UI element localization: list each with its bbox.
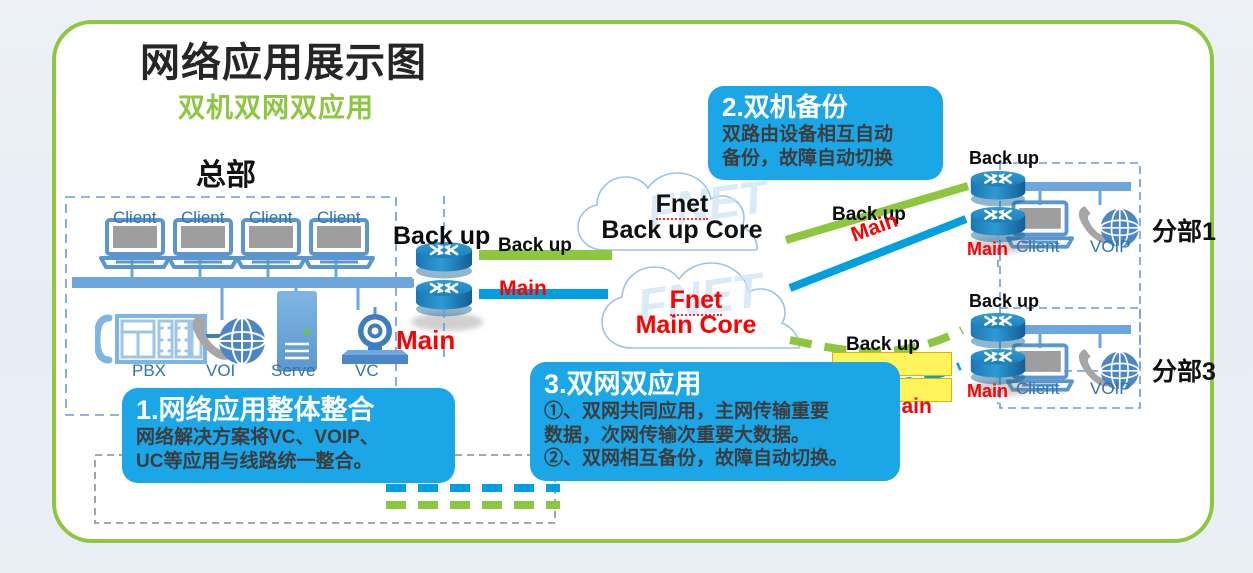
hq-client-label-2: Client: [181, 209, 221, 226]
hq-pbx-icon: [97, 316, 205, 362]
cloud-backup-name: Back up Core: [600, 218, 764, 243]
page-subtitle: 双机双网双应用: [178, 86, 374, 125]
link-label-hq-backup: Back up: [498, 235, 572, 257]
hq-laptop-3: [237, 220, 305, 267]
branch3-router-main-label: Main: [967, 381, 1008, 402]
branch1-router-backup: [971, 171, 1025, 206]
page-title: 网络应用展示图: [140, 30, 427, 88]
branch1-title: 分部1: [1152, 212, 1216, 248]
link-label-hq-main: Main: [499, 277, 547, 301]
callout-2[interactable]: 2.双机备份 双路由设备相互自动 备份，故障自动切换: [708, 86, 943, 180]
callout-3-line-3: ②、双网相互备份，故障自动切换。: [544, 447, 886, 471]
hq-client-label-1: Client: [113, 209, 153, 226]
branch3-router-backup-label: Back up: [969, 291, 1039, 312]
branch3-device-label-voip: VOIP: [1090, 380, 1130, 397]
hq-device-label-server: Serve: [271, 361, 315, 381]
callout-3-heading: 3.双网双应用: [544, 369, 886, 399]
hq-title: 总部: [196, 150, 256, 194]
hq-device-label-vc: VC: [355, 361, 379, 381]
hq-router-backup-label: Back up: [393, 222, 490, 251]
hq-device-label-voi: VOI: [206, 361, 235, 381]
branch3-router-backup: [971, 313, 1025, 348]
hq-device-label-pbx: PBX: [132, 361, 166, 381]
branch1-router-backup-label: Back up: [969, 148, 1039, 169]
branch1-device-label-voip: VOIP: [1090, 238, 1130, 255]
callout-3-line-1: ①、双网共同应用，主网传输重要: [544, 400, 886, 424]
hq-server-icon: [277, 291, 317, 371]
cloud-main-brand: Fnet: [636, 288, 756, 313]
hq-laptop-4: [305, 220, 373, 267]
callout-3-line-2: 数据，次网传输次重要大数据。: [544, 424, 886, 448]
cloud-backup-brand: Fnet: [622, 192, 742, 217]
hq-client-label-4: Client: [317, 209, 357, 226]
cloud-main-name: Main Core: [612, 313, 780, 338]
callout-1[interactable]: 1.网络应用整体整合 网络解决方案将VC、VOIP、 UC等应用与线路统一整合。: [122, 388, 455, 483]
callout-2-line-2: 备份，故障自动切换: [722, 147, 929, 171]
callout-1-heading: 1.网络应用整体整合: [136, 395, 441, 425]
callout-3[interactable]: 3.双网双应用 ①、双网共同应用，主网传输重要 数据，次网传输次重要大数据。 ②…: [530, 362, 900, 481]
hq-laptop-2: [169, 220, 237, 267]
hq-laptop-1: [101, 220, 169, 267]
branch1-router-main-label: Main: [967, 239, 1008, 260]
callout-1-line-1: 网络解决方案将VC、VOIP、: [136, 426, 441, 450]
link-label-branch3-backup: Back up: [846, 334, 920, 356]
callout-1-line-2: UC等应用与线路统一整合。: [136, 450, 441, 474]
hq-lan-bus: [72, 277, 412, 288]
diagram-canvas: FNET FNET: [0, 0, 1253, 573]
callout-2-heading: 2.双机备份: [722, 93, 929, 122]
callout-2-line-1: 双路由设备相互自动: [722, 123, 929, 147]
branch3-device-label-client: Client: [1016, 380, 1056, 397]
hq-router-main-label: Main: [396, 325, 455, 356]
hq-client-label-3: Client: [249, 209, 289, 226]
branch3-title: 分部3: [1152, 352, 1216, 388]
branch1-device-label-client: Client: [1016, 238, 1056, 255]
